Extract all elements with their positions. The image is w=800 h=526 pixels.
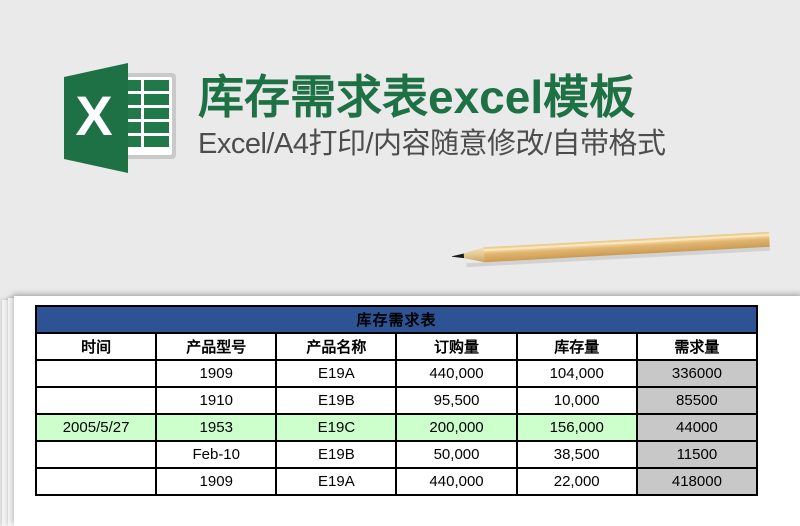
svg-text:X: X — [75, 84, 112, 147]
cell-date[interactable] — [36, 387, 156, 414]
cell-stock[interactable]: 156,000 — [517, 414, 637, 441]
cell-demand[interactable]: 11500 — [637, 441, 757, 468]
table-row-highlighted[interactable]: 2005/5/27 1953 E19C 200,000 156,000 4400… — [36, 414, 757, 441]
table-header-row: 时间 产品型号 产品名称 订购量 库存量 需求量 — [36, 333, 757, 360]
cell-model[interactable]: 1953 — [156, 414, 276, 441]
cell-order[interactable]: 440,000 — [396, 360, 516, 387]
cell-order[interactable]: 200,000 — [396, 414, 516, 441]
cell-demand[interactable]: 44000 — [637, 414, 757, 441]
cell-model[interactable]: 1910 — [156, 387, 276, 414]
page-subtitle: Excel/A4打印/内容随意修改/自带格式 — [198, 126, 666, 162]
inventory-demand-table: 库存需求表 时间 产品型号 产品名称 订购量 库存量 需求量 1909 E19A… — [35, 305, 758, 496]
column-header-order: 订购量 — [396, 333, 516, 360]
cell-model[interactable]: 1909 — [156, 468, 276, 495]
cell-date[interactable]: 2005/5/27 — [36, 414, 156, 441]
cell-date[interactable] — [36, 441, 156, 468]
cell-model[interactable]: Feb-10 — [156, 441, 276, 468]
column-header-name: 产品名称 — [276, 333, 396, 360]
table-title-row: 库存需求表 — [36, 306, 757, 333]
cell-name[interactable]: E19B — [276, 441, 396, 468]
cell-demand[interactable]: 418000 — [637, 468, 757, 495]
cell-date[interactable] — [36, 468, 156, 495]
table-title: 库存需求表 — [36, 306, 757, 333]
page-title: 库存需求表excel模板 — [198, 73, 666, 121]
excel-logo-icon: X — [58, 59, 180, 177]
cell-demand[interactable]: 85500 — [637, 387, 757, 414]
cell-demand[interactable]: 336000 — [637, 360, 757, 387]
column-header-demand: 需求量 — [637, 333, 757, 360]
cell-order[interactable]: 95,500 — [396, 387, 516, 414]
cell-name[interactable]: E19B — [276, 387, 396, 414]
cell-stock[interactable]: 38,500 — [517, 441, 637, 468]
cell-stock[interactable]: 10,000 — [517, 387, 637, 414]
column-header-stock: 库存量 — [517, 333, 637, 360]
table-row[interactable]: 1909 E19A 440,000 104,000 336000 — [36, 360, 757, 387]
table-body: 库存需求表 时间 产品型号 产品名称 订购量 库存量 需求量 1909 E19A… — [36, 306, 757, 495]
table-row[interactable]: Feb-10 E19B 50,000 38,500 11500 — [36, 441, 757, 468]
cell-stock[interactable]: 22,000 — [517, 468, 637, 495]
cell-order[interactable]: 50,000 — [396, 441, 516, 468]
cell-date[interactable] — [36, 360, 156, 387]
table-row[interactable]: 1909 E19A 440,000 22,000 418000 — [36, 468, 757, 495]
table-row[interactable]: 1910 E19B 95,500 10,000 85500 — [36, 387, 757, 414]
banner-header: X 库存需求表excel模板 Excel/A4打印/内容随意修改/自带格式 — [0, 45, 800, 190]
cell-name[interactable]: E19C — [276, 414, 396, 441]
banner-text: 库存需求表excel模板 Excel/A4打印/内容随意修改/自带格式 — [198, 73, 666, 162]
cell-name[interactable]: E19A — [276, 360, 396, 387]
column-header-date: 时间 — [36, 333, 156, 360]
cell-model[interactable]: 1909 — [156, 360, 276, 387]
cell-order[interactable]: 440,000 — [396, 468, 516, 495]
page-root: X 库存需求表excel模板 Excel/A4打印/内容随意修改/自带格式 — [0, 0, 800, 526]
pencil-icon — [451, 226, 770, 273]
cell-stock[interactable]: 104,000 — [517, 360, 637, 387]
cell-name[interactable]: E19A — [276, 468, 396, 495]
column-header-model: 产品型号 — [156, 333, 276, 360]
